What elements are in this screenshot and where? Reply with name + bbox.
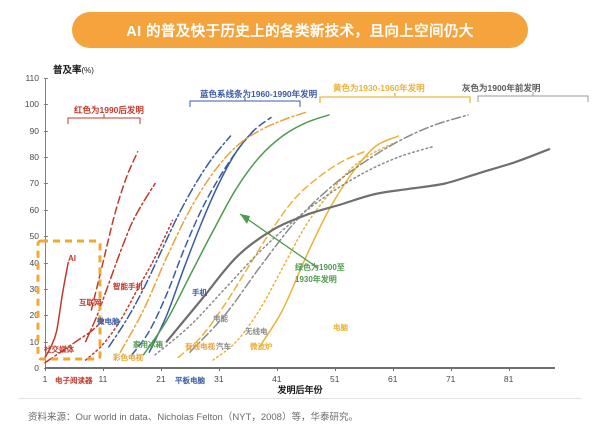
group-label-gray: 灰色为1900年前发明 [462, 82, 540, 94]
series-label-radio: 无线电 [245, 326, 268, 337]
series-label-computer: 电脑 [333, 322, 348, 333]
series-label-social: 社交媒体 [44, 344, 74, 355]
group-label-green: 绿色为1900至 1930年发明 [295, 262, 345, 286]
series-label-tablet: 平板电脑 [175, 375, 205, 386]
series-label-electric: 电能 [213, 313, 228, 324]
green-arrow-head [240, 214, 250, 224]
group-label-blue: 蓝色系线条为1960-1990年发明 [200, 88, 317, 100]
series-line-无线电 [190, 115, 468, 352]
series-label-car: 汽车 [216, 341, 231, 352]
series-label-AI: AI [68, 254, 76, 263]
group-label-green-line1: 绿色为1900至 [295, 263, 345, 272]
chart-page: AI 的普及快于历史上的各类新技术，且向上空间仍大 普及率(%) 0102030… [0, 0, 600, 441]
source-note: 资料来源：Our world in data、Nicholas Felton（N… [28, 409, 358, 423]
series-label-internet: 互联网 [79, 297, 102, 308]
group-bracket [320, 93, 470, 103]
series-line-手机 [132, 118, 271, 355]
series-label-microwave: 微波炉 [250, 341, 273, 352]
footer-divider [18, 398, 582, 399]
series-label-mobile: 手机 [192, 287, 207, 298]
series-line-平板电脑 [149, 131, 253, 353]
series-line-微波炉 [213, 141, 398, 360]
group-label-red: 红色为1990后发明 [74, 104, 144, 116]
series-label-fridge: 家用冰箱 [133, 339, 163, 350]
series-label-cabletv: 有线电视 [185, 341, 215, 352]
group-label-yellow: 黄色为1930-1960年发明 [333, 82, 425, 94]
series-label-microcomp: 微电脑 [97, 316, 120, 327]
series-line-电能 [155, 147, 433, 355]
series-label-ereader: 电子阅读器 [55, 375, 93, 386]
group-label-green-line2: 1930年发明 [295, 275, 337, 284]
series-label-smartphone: 智能手机 [113, 281, 143, 292]
series-label-colortv: 彩色电视 [113, 352, 143, 363]
